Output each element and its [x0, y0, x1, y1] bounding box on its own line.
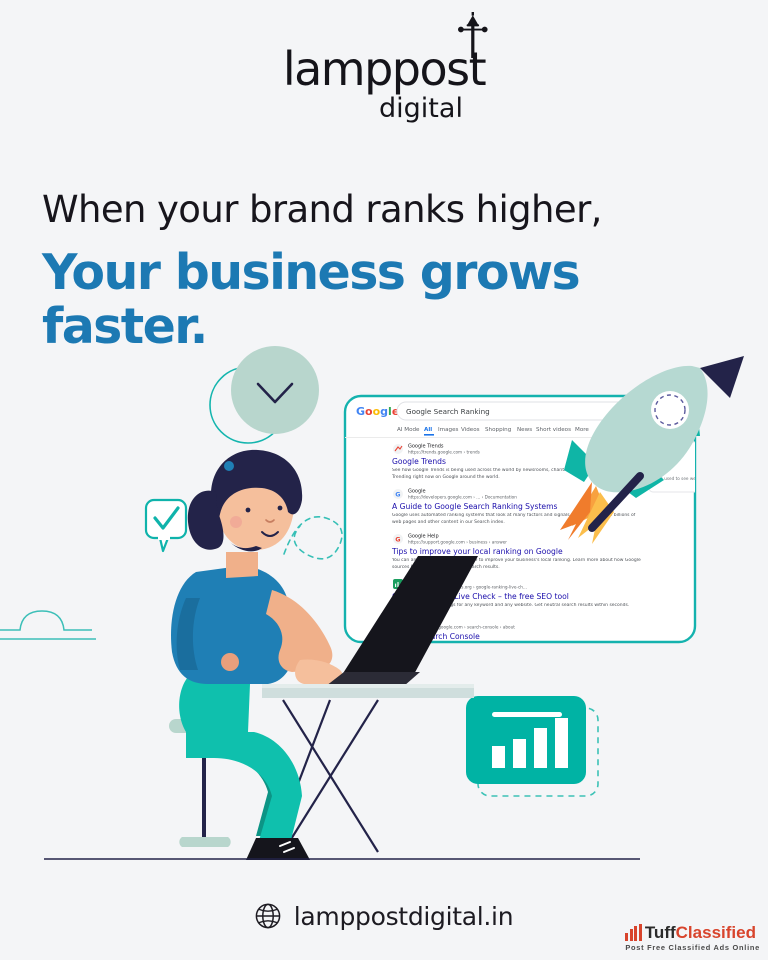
- tab-ai-mode[interactable]: AI Mode: [397, 427, 420, 433]
- desk-top-highlight: [262, 684, 474, 688]
- rocket-window: [651, 391, 689, 429]
- bar-2: [513, 739, 526, 768]
- bar-chart-card-title-bar: [492, 712, 562, 717]
- tab-news[interactable]: News: [517, 427, 532, 433]
- watermark-tagline: Post Free Classified Ads Online: [625, 943, 760, 952]
- result-url: https://support.google.com › business › …: [408, 540, 507, 545]
- tab-all[interactable]: All: [424, 427, 432, 433]
- bar-chart-card-icon: [466, 696, 598, 796]
- person-shoe: [246, 838, 310, 860]
- bar-3: [534, 728, 547, 768]
- person-eye: [246, 508, 251, 513]
- result-title[interactable]: A Guide to Google Search Ranking Systems: [392, 502, 558, 511]
- brand-wordmark: lamppost: [283, 46, 485, 92]
- watermark-name-second: Classified: [676, 923, 756, 942]
- illustration-stage: Google Google Search Ranking: [0, 340, 768, 880]
- google-trends-icon: [393, 444, 403, 454]
- bar-chart-icon: [625, 924, 642, 941]
- globe-icon: [255, 903, 281, 929]
- tab-images[interactable]: Images: [438, 427, 459, 433]
- result-url: https://trends.google.com › trends: [408, 450, 480, 455]
- tab-more[interactable]: More: [575, 427, 589, 433]
- google-g-glyph: G: [395, 491, 400, 499]
- search-input-value: Google Search Ranking: [406, 407, 490, 416]
- person-eye: [278, 506, 283, 511]
- headline-line-1: When your brand ranks higher,: [42, 188, 742, 232]
- brand-subtitle: digital: [74, 95, 768, 122]
- hair-tie: [224, 461, 234, 471]
- headline-line-2: Your business grows faster.: [42, 246, 742, 354]
- stool-base: [179, 837, 230, 847]
- watermark-tuffclassified: TuffClassified Post Free Classified Ads …: [625, 924, 760, 952]
- tab-videos[interactable]: Videos: [461, 427, 480, 433]
- footer-website-url[interactable]: lamppostdigital.in: [294, 904, 514, 929]
- bar-1: [492, 746, 505, 768]
- google-logo: Google: [356, 405, 399, 418]
- result-title[interactable]: Tips to improve your local ranking on Go…: [391, 547, 563, 556]
- tab-short-videos[interactable]: Short videos: [536, 427, 571, 433]
- check-speech-bubble-icon: [146, 500, 186, 551]
- poster-canvas: lamppost digital When your brand ranks h…: [0, 0, 768, 960]
- decor-dashed-path: [284, 517, 342, 559]
- watermark-name-first: Tuff: [645, 923, 676, 942]
- svg-text:Google: Google: [356, 405, 399, 418]
- result-title[interactable]: Google Trends: [392, 457, 446, 466]
- cloud-outline-icon: [0, 611, 96, 639]
- tab-shopping[interactable]: Shopping: [485, 427, 512, 433]
- decor-circle-filled: [231, 346, 319, 434]
- brand-wordmark-text: lamppost: [283, 42, 485, 96]
- bar-4: [555, 718, 568, 768]
- headline: When your brand ranks higher, Your busin…: [42, 188, 742, 353]
- person-neck: [226, 552, 258, 578]
- help-glyph: G: [395, 536, 400, 544]
- browser-tab-row[interactable]: AI Mode All Images Videos Shopping News …: [397, 427, 612, 433]
- tab-active-underline: [424, 434, 434, 436]
- result-url: https://developers.google.com › ... › Do…: [408, 495, 517, 500]
- person-elbow-shade: [221, 653, 239, 671]
- street-lamp-icon: [458, 12, 488, 58]
- person-blush: [230, 516, 242, 528]
- brand-logo: lamppost digital: [0, 46, 768, 122]
